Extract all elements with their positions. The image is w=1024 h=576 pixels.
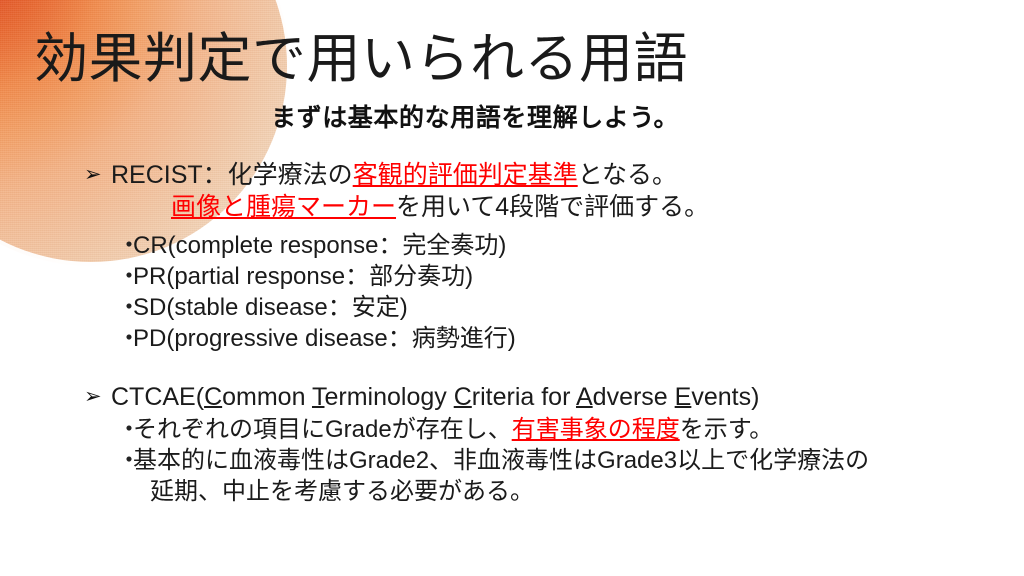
- ctcae-heading-text: CTCAE(Common Terminology Criteria for Ad…: [111, 383, 759, 411]
- ctcae-toxicity-line1: 基本的に血液毒性はGrade2、非血液毒性はGrade3以上で化学療法の: [133, 447, 869, 474]
- bullet-ctcae-toxicity: ・基本的に血液毒性はGrade2、非血液毒性はGrade3以上で化学療法の: [0, 445, 1024, 476]
- response-label-pr: PR(partial response：部分奏功): [133, 263, 473, 290]
- ctcae-heading-run: A: [576, 383, 593, 411]
- dot-bullet-icon: ・: [117, 261, 133, 292]
- ctcae-heading-run: C: [454, 383, 472, 411]
- ctcae-heading-run: T: [312, 383, 325, 411]
- bullet-recist: ➢RECIST：化学療法の客観的評価判定基準となる。: [0, 160, 1024, 192]
- response-label-cr: CR(complete response：完全奏功): [133, 232, 506, 259]
- ctcae-heading-run: erminology: [324, 383, 453, 411]
- slide-canvas: 効果判定で用いられる用語 まずは基本的な用語を理解しよう。 ➢RECIST：化学…: [0, 0, 1024, 576]
- list-item-pr: ・PR(partial response：部分奏功): [0, 261, 1024, 292]
- ctcae-heading-run: vents): [691, 383, 759, 411]
- page-subtitle: まずは基本的な用語を理解しよう。: [271, 98, 679, 134]
- recist-text-post: となる。: [578, 161, 677, 189]
- dot-bullet-icon: ・: [117, 323, 133, 354]
- recist-text-pre: RECIST：化学療法の: [111, 161, 353, 189]
- ctcae-heading-run: riteria for: [472, 383, 576, 411]
- section-spacer: [0, 354, 1024, 382]
- page-title: 効果判定で用いられる用語: [34, 28, 688, 92]
- list-item-sd: ・SD(stable disease：安定): [0, 292, 1024, 323]
- ctcae-grade-pre: それぞれの項目にGradeが存在し、: [133, 416, 512, 443]
- list-item-cr: ・CR(complete response：完全奏功): [0, 230, 1024, 261]
- recist-highlight-1: 客観的評価判定基準: [353, 161, 578, 189]
- list-item-pd: ・PD(progressive disease：病勢進行): [0, 323, 1024, 354]
- dot-bullet-icon: ・: [117, 445, 133, 476]
- slide-body: ➢RECIST：化学療法の客観的評価判定基準となる。 画像と腫瘍マーカーを用いて…: [0, 160, 1024, 507]
- ctcae-heading-run: CTCAE(: [111, 383, 204, 411]
- bullet-ctcae-grade: ・それぞれの項目にGradeが存在し、有害事象の程度を示す。: [0, 414, 1024, 445]
- bullet-ctcae-toxicity-cont: 延期、中止を考慮する必要がある。: [0, 476, 1024, 507]
- recist-line2-post: を用いて4段階で評価する。: [396, 193, 709, 221]
- ctcae-heading-run: dverse: [593, 383, 675, 411]
- dot-bullet-icon: ・: [117, 414, 133, 445]
- ctcae-highlight: 有害事象の程度: [512, 416, 680, 443]
- recist-highlight-2: 画像と腫瘍マーカー: [171, 193, 396, 221]
- ctcae-grade-post: を示す。: [680, 416, 774, 443]
- bullet-recist-line2: 画像と腫瘍マーカーを用いて4段階で評価する。: [0, 192, 1024, 223]
- ctcae-toxicity-line2: 延期、中止を考慮する必要がある。: [150, 478, 534, 505]
- dot-bullet-icon: ・: [117, 230, 133, 261]
- dot-bullet-icon: ・: [117, 292, 133, 323]
- ctcae-heading-run: C: [204, 383, 222, 411]
- response-label-pd: PD(progressive disease：病勢進行): [133, 325, 516, 352]
- bullet-ctcae: ➢CTCAE(Common Terminology Criteria for A…: [0, 382, 1024, 414]
- arrow-bullet-icon: ➢: [84, 159, 111, 190]
- response-label-sd: SD(stable disease：安定): [133, 294, 408, 321]
- arrow-bullet-icon: ➢: [84, 381, 111, 412]
- ctcae-heading-run: ommon: [222, 383, 312, 411]
- ctcae-heading-run: E: [675, 383, 692, 411]
